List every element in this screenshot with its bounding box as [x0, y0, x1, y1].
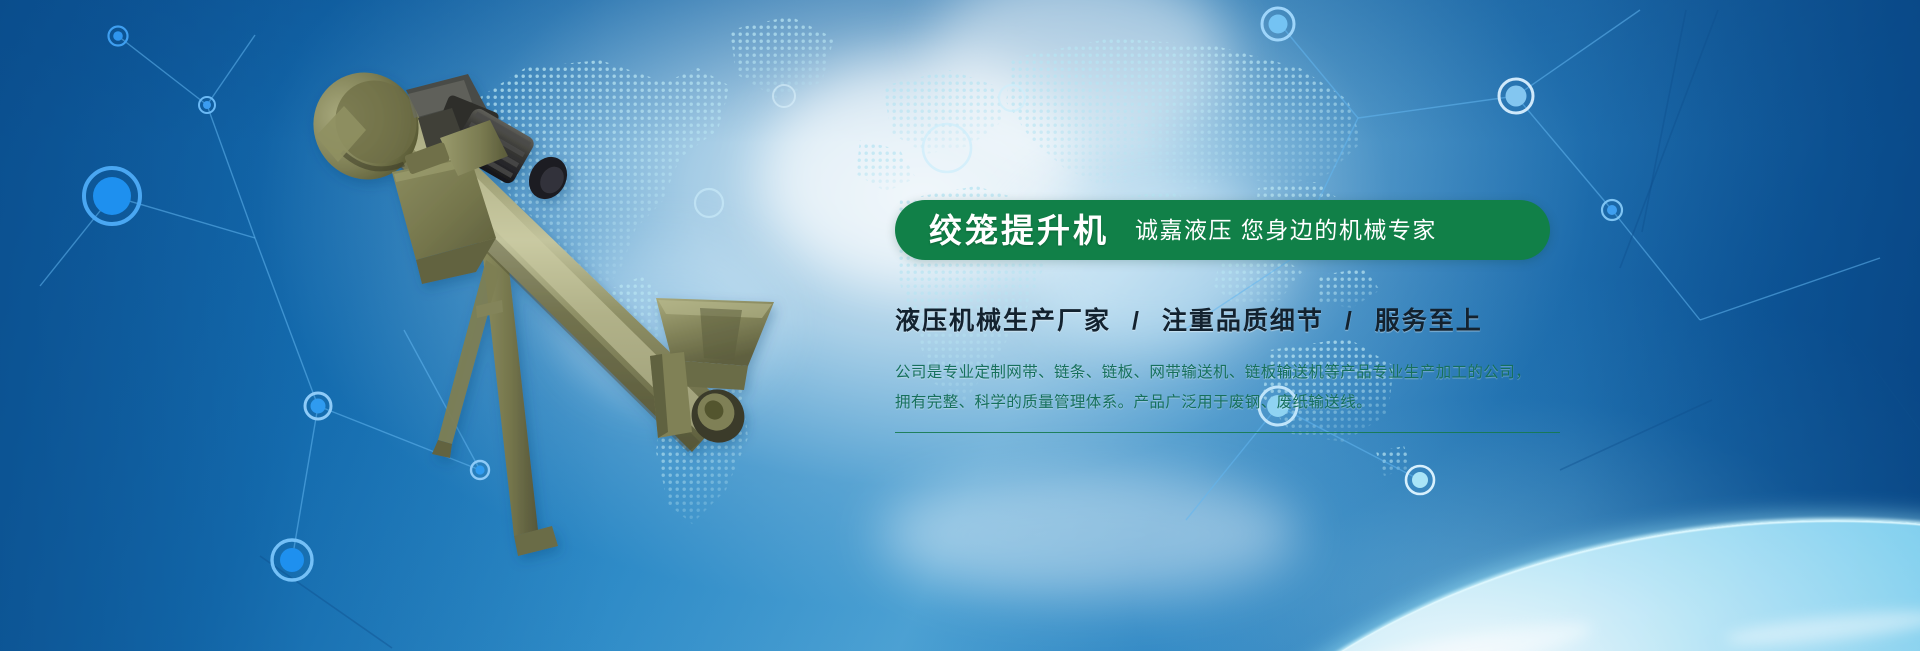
product-title: 绞笼提升机 — [929, 214, 1109, 247]
product-hero-banner: 绞笼提升机 诚嘉液压 您身边的机械专家 液压机械生产厂家 / 注重品质细节 / … — [0, 0, 1920, 651]
headline-part-1: 液压机械生产厂家 — [895, 307, 1111, 335]
headline-part-3: 服务至上 — [1375, 307, 1483, 335]
headline-separator-2: / — [1333, 307, 1366, 335]
headline-part-2: 注重品质细节 — [1162, 307, 1324, 335]
product-badge: 绞笼提升机 诚嘉液压 您身边的机械专家 — [895, 200, 1550, 260]
content-divider — [895, 432, 1560, 433]
product-slogan: 诚嘉液压 您身边的机械专家 — [1135, 219, 1437, 242]
company-description: 公司是专业定制网带、链条、链板、网带输送机、链板输送机等产品专业生产加工的公司，… — [895, 358, 1575, 418]
headline-separator-1: / — [1120, 307, 1153, 335]
description-line-1: 公司是专业定制网带、链条、链板、网带输送机、链板输送机等产品专业生产加工的公司， — [895, 358, 1575, 388]
banner-content: 绞笼提升机 诚嘉液压 您身边的机械专家 液压机械生产厂家 / 注重品质细节 / … — [895, 200, 1575, 433]
description-line-2: 拥有完整、科学的质量管理体系。产品广泛用于废钢、废纸输送线。 — [895, 388, 1575, 418]
product-image-screw-conveyor — [300, 60, 840, 580]
headline: 液压机械生产厂家 / 注重品质细节 / 服务至上 — [895, 309, 1575, 334]
